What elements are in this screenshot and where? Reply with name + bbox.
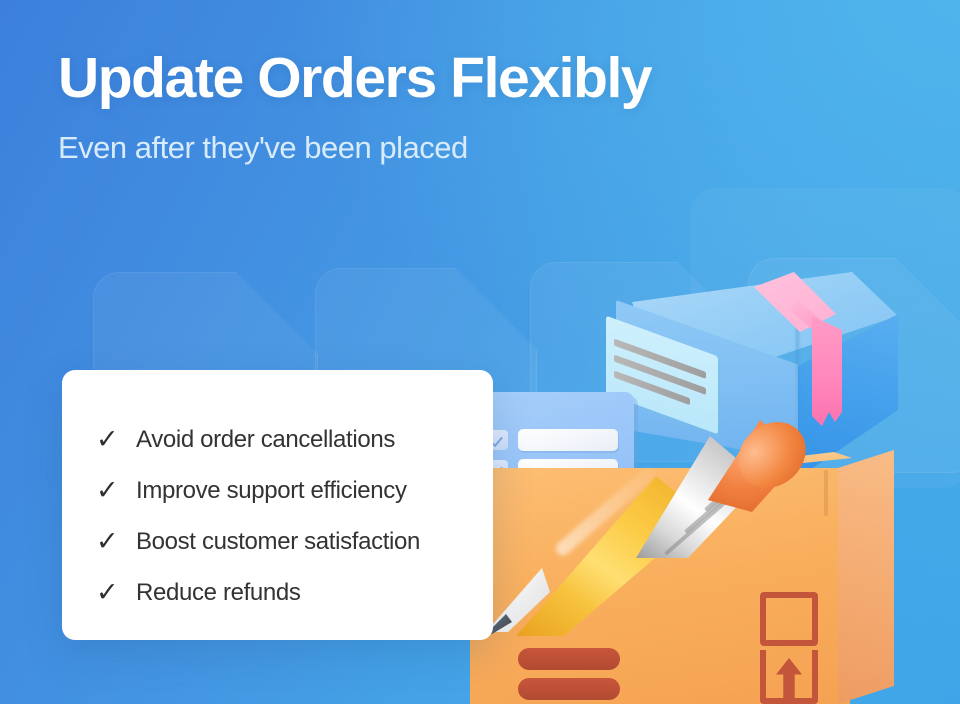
list-item-label: Boost customer satisfaction [136, 528, 420, 556]
list-item-label: Improve support efficiency [136, 477, 407, 505]
orange-box-side-face [838, 450, 894, 704]
tape-bar [518, 678, 620, 700]
check-icon: ✓ [96, 579, 136, 606]
promo-banner: Update Orders Flexibly Even after they'v… [0, 0, 960, 704]
check-icon: ✓ [96, 528, 136, 555]
list-item: ✓ Boost customer satisfaction [96, 516, 493, 567]
list-item-label: Reduce refunds [136, 579, 301, 607]
list-item: ✓ Reduce refunds [96, 567, 493, 618]
check-icon: ✓ [96, 426, 136, 453]
list-item: ✓ Avoid order cancellations [96, 414, 493, 465]
check-icon: ✓ [96, 477, 136, 504]
package-symbol-frame [760, 592, 818, 646]
list-item-label: Avoid order cancellations [136, 426, 395, 454]
page-title: Update Orders Flexibly [58, 48, 858, 108]
tape-bar [518, 648, 620, 670]
feature-list-card: ✓ Avoid order cancellations ✓ Improve su… [62, 370, 493, 640]
orange-box-flap-seam [824, 470, 828, 516]
list-item: ✓ Improve support efficiency [96, 465, 493, 516]
page-subtitle: Even after they've been placed [58, 130, 858, 166]
headline-block: Update Orders Flexibly Even after they'v… [58, 48, 858, 166]
pencil [468, 418, 768, 648]
